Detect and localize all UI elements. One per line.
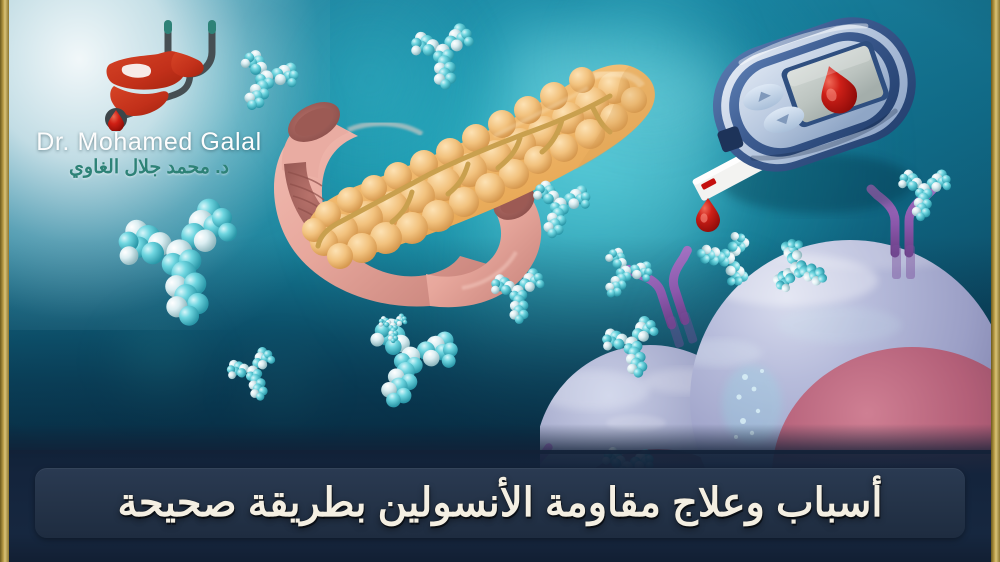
liver-stethoscope-logo bbox=[80, 16, 230, 131]
channel-logo: Dr. Mohamed Galal د. محمد جلال الغاوي bbox=[24, 16, 274, 176]
thumbnail-canvas: Dr. Mohamed Galal د. محمد جلال الغاوي أس… bbox=[0, 0, 1000, 562]
pancreas-body bbox=[302, 64, 655, 269]
video-title-text: أسباب وعلاج مقاومة الأنسولين بطريقة صحيح… bbox=[117, 480, 882, 526]
left-gold-border bbox=[0, 0, 9, 562]
pancreas-organ bbox=[262, 60, 682, 330]
banner-top-fade bbox=[0, 424, 1000, 454]
logo-name-ar: د. محمد جلال الغاوي bbox=[24, 156, 274, 179]
logo-name-en: Dr. Mohamed Galal bbox=[24, 128, 274, 157]
title-banner-box: أسباب وعلاج مقاومة الأنسولين بطريقة صحيح… bbox=[35, 468, 965, 538]
blood-glucose-meter bbox=[690, 8, 940, 238]
title-banner: أسباب وعلاج مقاومة الأنسولين بطريقة صحيح… bbox=[0, 450, 1000, 562]
pancreas-lobules bbox=[302, 67, 647, 269]
right-gold-border bbox=[991, 0, 1000, 562]
blood-drop-falling bbox=[696, 198, 720, 232]
